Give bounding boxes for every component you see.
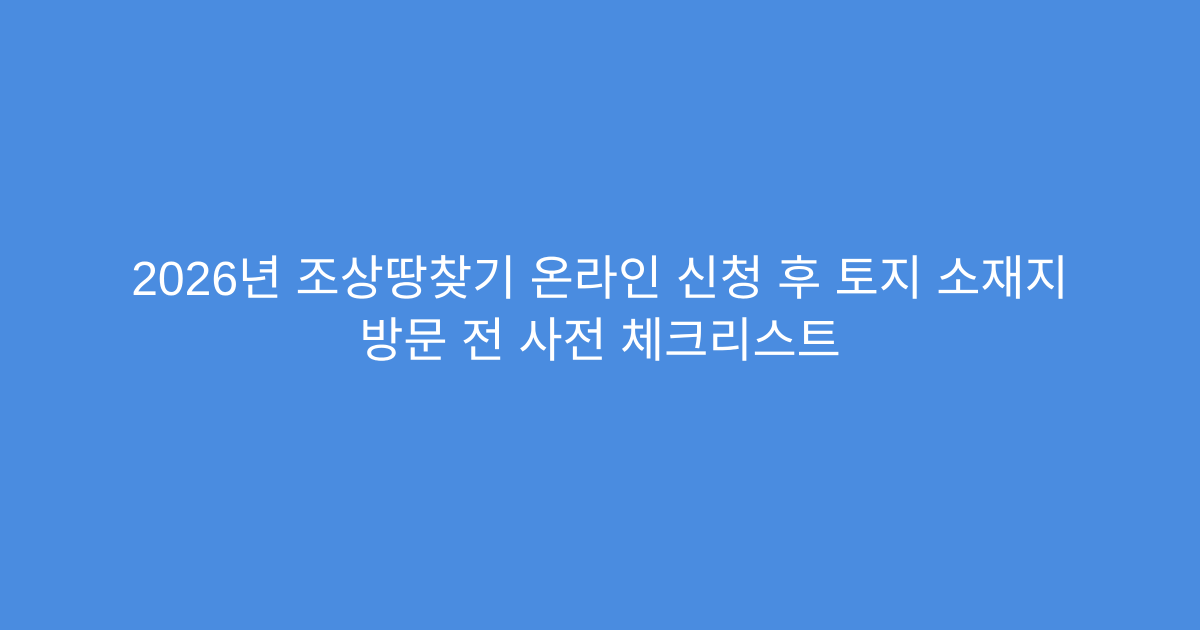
- page-title: 2026년 조상땅찾기 온라인 신청 후 토지 소재지 방문 전 사전 체크리스…: [90, 249, 1110, 373]
- headline-block: 2026년 조상땅찾기 온라인 신청 후 토지 소재지 방문 전 사전 체크리스…: [70, 249, 1130, 373]
- og-card-canvas: 2026년 조상땅찾기 온라인 신청 후 토지 소재지 방문 전 사전 체크리스…: [0, 0, 1200, 630]
